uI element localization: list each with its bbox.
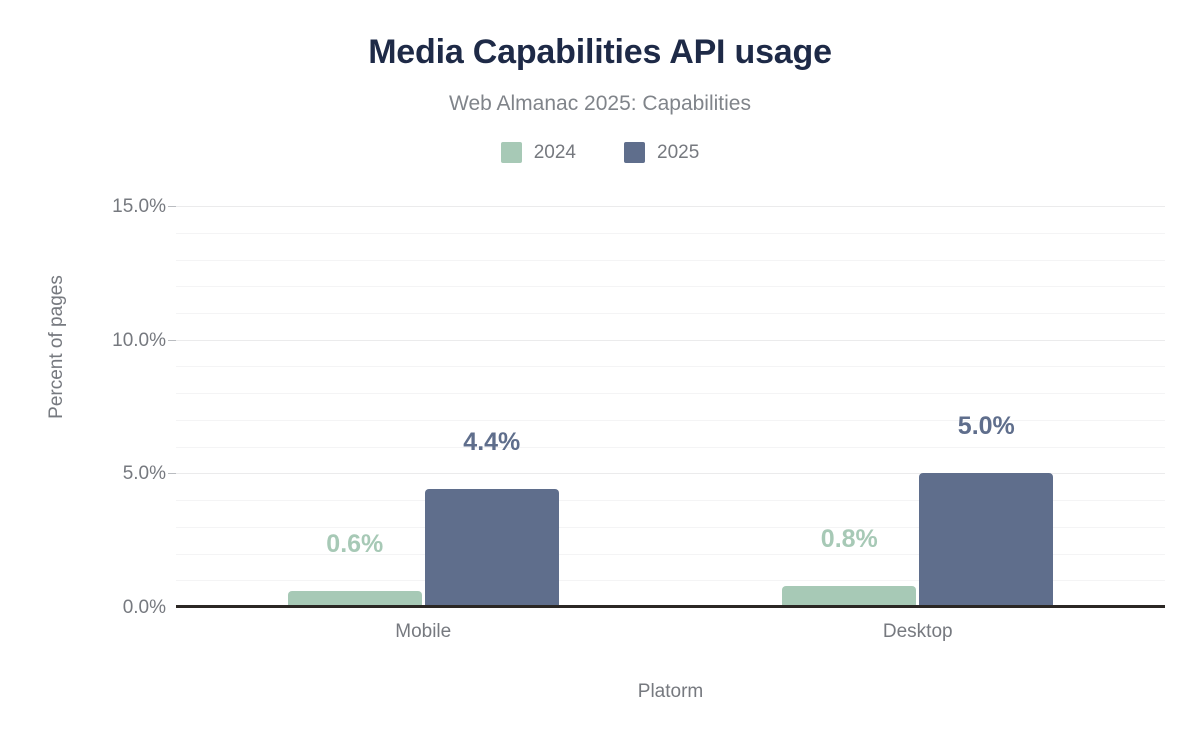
gridline-major	[176, 340, 1165, 341]
gridline-minor	[176, 260, 1165, 261]
y-axis-tick-label: 15.0%	[26, 197, 166, 216]
y-axis-tick-label: 0.0%	[26, 598, 166, 617]
legend-label: 2024	[534, 142, 576, 163]
bar-mobile-2025[interactable]	[425, 489, 559, 607]
bar-value-label-mobile-2025: 4.4%	[395, 428, 589, 456]
plot-area: 0.6%4.4%0.8%5.0%	[176, 206, 1165, 607]
bar-desktop-2024[interactable]	[782, 586, 916, 607]
gridline-minor	[176, 313, 1165, 314]
gridline-minor	[176, 233, 1165, 234]
gridline-minor	[176, 286, 1165, 287]
x-axis-baseline	[176, 605, 1165, 608]
x-axis-tick-label-mobile: Mobile	[176, 620, 671, 644]
legend-swatch-icon-2024	[501, 142, 522, 163]
y-axis-tick-mark	[168, 340, 176, 341]
chart-subtitle: Web Almanac 2025: Capabilities	[0, 90, 1200, 118]
gridline-minor	[176, 393, 1165, 394]
gridline-minor	[176, 447, 1165, 448]
legend-swatch-icon-2025	[624, 142, 645, 163]
bar-desktop-2025[interactable]	[919, 473, 1053, 607]
legend-item-2024[interactable]: 2024	[501, 142, 576, 163]
bar-value-label-mobile-2024: 0.6%	[258, 530, 452, 558]
x-axis-tick-label-desktop: Desktop	[671, 620, 1166, 644]
legend-label: 2025	[657, 142, 699, 163]
gridline-major	[176, 206, 1165, 207]
y-axis-tick-mark	[168, 473, 176, 474]
y-axis-tick-mark	[168, 206, 176, 207]
y-axis-label: Percent of pages	[46, 227, 68, 467]
bar-value-label-desktop-2025: 5.0%	[889, 412, 1083, 440]
y-axis-tick-label: 5.0%	[26, 464, 166, 483]
chart-figure: Media Capabilities API usage Web Almanac…	[0, 0, 1200, 742]
bar-value-label-desktop-2024: 0.8%	[752, 525, 946, 553]
chart-title: Media Capabilities API usage	[0, 30, 1200, 74]
x-axis-label: Platorm	[176, 680, 1165, 704]
chart-legend: 20242025	[0, 142, 1200, 163]
legend-item-2025[interactable]: 2025	[624, 142, 699, 163]
gridline-minor	[176, 366, 1165, 367]
